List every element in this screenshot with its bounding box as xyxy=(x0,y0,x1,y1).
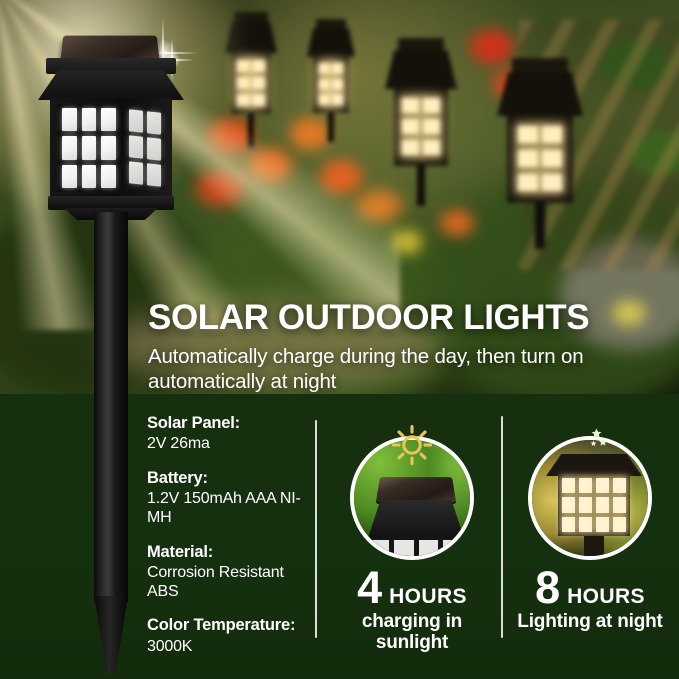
spec-label: Battery: xyxy=(147,469,312,488)
charging-hours-row: 4 HOURS xyxy=(327,569,497,609)
lantern-base xyxy=(48,196,174,210)
lantern-side-panes xyxy=(126,106,164,190)
page-subtitle: Automatically charge during the day, the… xyxy=(148,344,668,394)
charging-hours-unit: HOURS xyxy=(389,585,467,609)
lantern-roof xyxy=(38,70,184,100)
lantern-window-strip xyxy=(364,537,468,559)
lantern-post-closeup xyxy=(584,536,604,560)
spec-value: 3000K xyxy=(147,637,312,656)
column-divider xyxy=(315,420,317,638)
headline-block: SOLAR OUTDOOR LIGHTS Automatically charg… xyxy=(148,300,668,394)
flower-blob xyxy=(470,30,514,64)
spec-label: Material: xyxy=(147,543,312,562)
spec-value: Corrosion Resistant ABS xyxy=(147,563,312,601)
lighting-hours-row: 8 HOURS xyxy=(505,569,675,609)
spec-item-material: Material: Corrosion Resistant ABS xyxy=(147,543,312,602)
lighting-hours-unit: HOURS xyxy=(567,585,645,609)
spec-value: 2V 26ma xyxy=(147,434,312,453)
charging-description: charging in sunlight xyxy=(333,612,491,653)
spec-item-battery: Battery: 1.2V 150mAh AAA NI-MH xyxy=(147,469,312,528)
feature-lighting: 8 HOURS Lighting at night xyxy=(505,436,675,633)
spec-label: Color Temperature: xyxy=(147,616,312,635)
product-infographic: SOLAR OUTDOOR LIGHTS Automatically charg… xyxy=(0,0,679,679)
spec-item-color-temperature: Color Temperature: 3000K xyxy=(147,616,312,656)
lantern-lit-windows xyxy=(558,474,630,536)
flower-blob xyxy=(440,210,474,236)
lighting-description: Lighting at night xyxy=(511,612,669,633)
lantern-front-panes xyxy=(58,104,120,192)
lighting-hours-number: 8 xyxy=(535,569,560,608)
column-divider xyxy=(501,416,503,638)
solar-panel-top xyxy=(61,36,160,59)
solar-cell-surface xyxy=(376,477,456,502)
page-title: SOLAR OUTDOOR LIGHTS xyxy=(148,300,668,335)
spec-label: Solar Panel: xyxy=(147,414,312,433)
charging-hours-number: 4 xyxy=(357,569,382,608)
feature-charging: 4 HOURS charging in sunlight xyxy=(327,436,497,653)
background-lantern xyxy=(497,72,583,242)
lantern-cap-closeup xyxy=(368,500,464,538)
spec-item-solar-panel: Solar Panel: 2V 26ma xyxy=(147,414,312,454)
lantern-stake-pole xyxy=(94,212,128,602)
moon-icon xyxy=(565,420,615,473)
sun-icon xyxy=(389,420,435,471)
main-lantern-product xyxy=(36,28,186,228)
specification-list: Solar Panel: 2V 26ma Battery: 1.2V 150mA… xyxy=(147,414,312,671)
spec-value: 1.2V 150mAh AAA NI-MH xyxy=(147,489,312,527)
